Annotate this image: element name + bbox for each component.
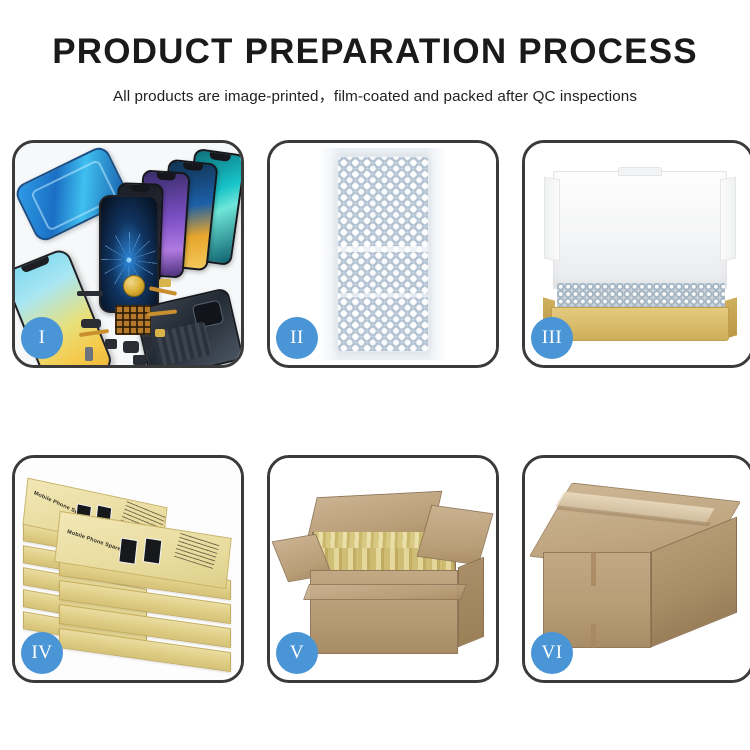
step-badge-1: I — [21, 317, 63, 359]
page-title: PRODUCT PREPARATION PROCESS — [0, 34, 750, 71]
part-chip-icon — [105, 339, 117, 349]
part-flex-tip-icon — [159, 279, 171, 287]
spare-parts-group — [77, 275, 207, 365]
phone-notch-icon — [183, 162, 204, 171]
open-mailer-box-icon — [543, 171, 737, 343]
gold-coil-icon — [123, 275, 145, 297]
lid-screen-thumb-icon — [118, 538, 138, 565]
part-bracket-icon — [133, 355, 147, 365]
phone-notch-icon — [156, 172, 176, 180]
carton-seam-icon — [591, 624, 596, 648]
page-subtitle: All products are image-printed，film-coat… — [0, 84, 750, 106]
step-badge-5: V — [276, 632, 318, 674]
flex-cable-icon — [149, 286, 177, 296]
mailer-tab-icon — [618, 167, 662, 176]
phone-notch-icon — [209, 152, 231, 162]
process-step-panel-6: VI — [522, 455, 750, 683]
part-camera-icon — [123, 341, 139, 353]
phone-notch-icon — [131, 185, 150, 193]
mailer-lid-icon — [553, 171, 727, 289]
part-battery-icon — [85, 347, 93, 361]
step-badge-6: VI — [531, 632, 573, 674]
step-badge-4: IV — [21, 632, 63, 674]
flex-cable-icon — [79, 329, 109, 337]
process-step-grid: I II III — [12, 140, 738, 683]
carton-seam-icon — [591, 552, 596, 586]
part-flex-tip-icon — [155, 329, 165, 337]
chip-grid-icon — [115, 305, 151, 335]
page-header: PRODUCT PREPARATION PROCESS All products… — [0, 0, 750, 106]
process-step-panel-1: I — [12, 140, 244, 368]
step-badge-2: II — [276, 317, 318, 359]
mailer-front-panel-icon — [551, 307, 729, 341]
part-connector-icon — [143, 337, 152, 350]
carton-front-panel-icon — [310, 570, 458, 654]
lid-spec-lines-icon — [174, 532, 220, 569]
carton-side-panel-icon — [458, 557, 484, 648]
lid-screen-thumb-icon — [143, 537, 163, 564]
open-carton-icon — [282, 492, 488, 662]
sealed-carton-icon — [539, 484, 739, 666]
part-speaker-icon — [77, 291, 103, 296]
process-step-panel-4: Mobile Phone Spare Parts Mobile Phone Sp… — [12, 455, 244, 683]
step-badge-3: III — [531, 317, 573, 359]
wrap-seam-icon — [338, 157, 428, 351]
process-step-panel-3: III — [522, 140, 750, 368]
part-module-icon — [81, 319, 101, 328]
flex-cable-icon — [147, 309, 177, 316]
process-step-panel-5: V — [267, 455, 499, 683]
carton-flap-front-icon — [303, 584, 467, 600]
process-step-panel-2: II — [267, 140, 499, 368]
